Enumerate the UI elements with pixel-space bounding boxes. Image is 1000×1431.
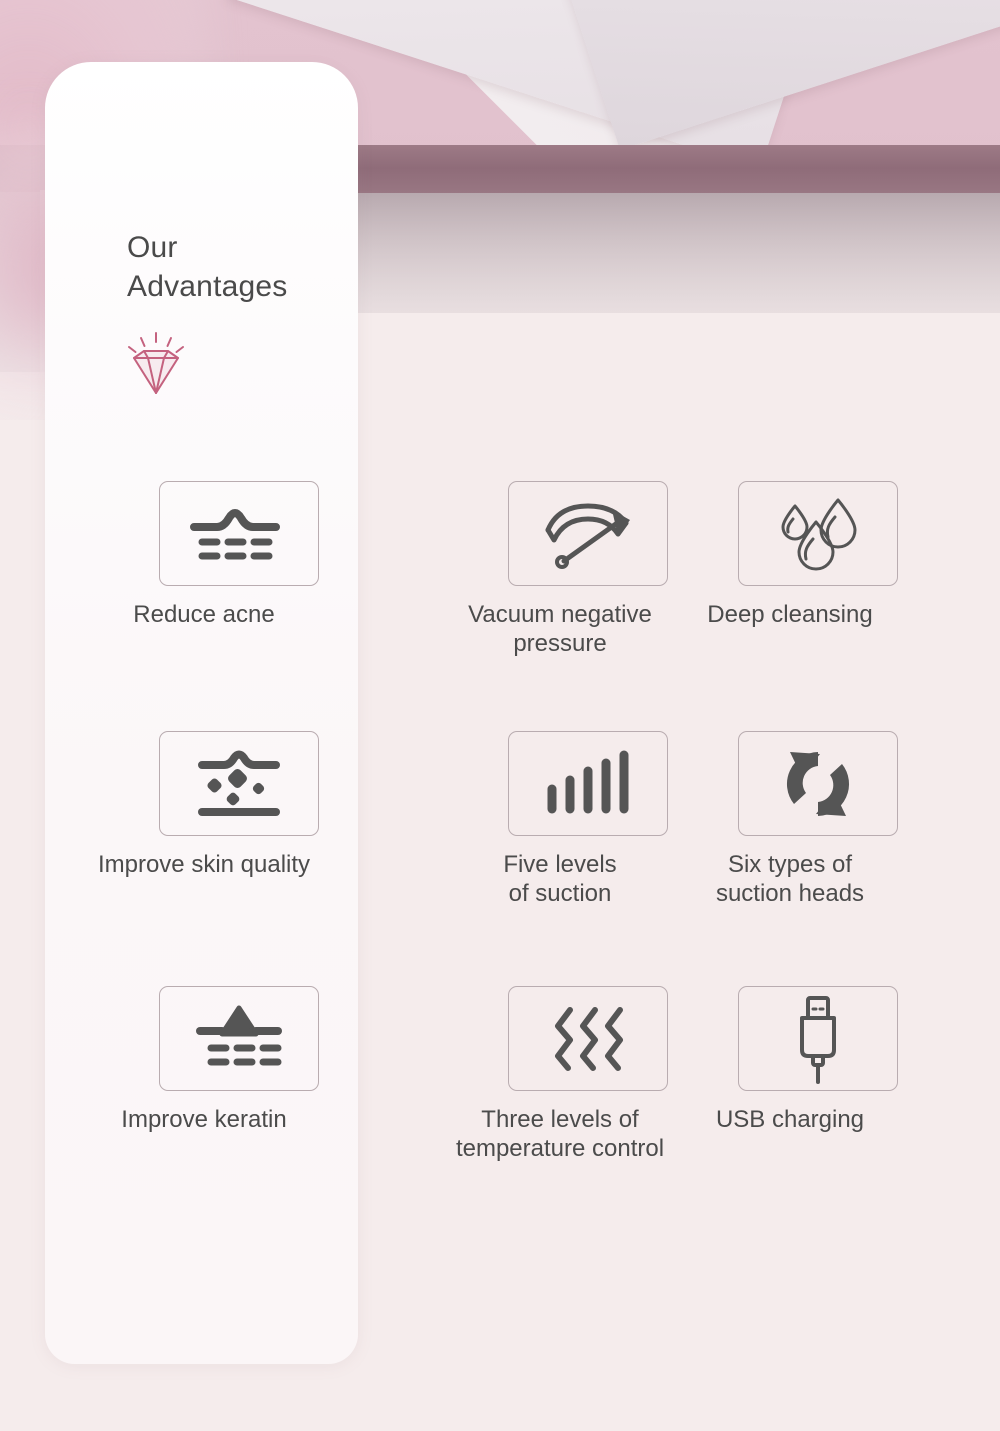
feature-label: Deep cleansing <box>655 600 925 629</box>
skin-bump-dashes-icon <box>159 481 319 586</box>
advantages-page: Our Advantages <box>0 0 1000 1431</box>
page-title: Our Advantages <box>127 228 347 306</box>
feature-label: Six types of suction heads <box>655 850 925 908</box>
feature-usb-charging[interactable]: USB charging <box>710 986 925 1134</box>
water-droplets-icon <box>738 481 898 586</box>
feature-improve-skin-quality[interactable]: Improve skin quality <box>124 731 354 879</box>
heat-waves-icon <box>508 986 668 1091</box>
feature-three-levels-of-temperature-control[interactable]: Three levels of temperature control <box>480 986 695 1163</box>
feature-label: Reduce acne <box>54 600 354 629</box>
pressure-gauge-icon <box>508 481 668 586</box>
feature-label: Improve keratin <box>54 1105 354 1134</box>
usb-plug-icon <box>738 986 898 1091</box>
feature-reduce-acne[interactable]: Reduce acne <box>124 481 354 629</box>
skin-peak-dashes-icon <box>159 986 319 1091</box>
refresh-cycle-icon <box>738 731 898 836</box>
diamond-icon <box>121 331 191 397</box>
signal-bars-icon <box>508 731 668 836</box>
feature-six-types-of-suction-heads[interactable]: Six types of suction heads <box>710 731 925 908</box>
feature-label: Improve skin quality <box>54 850 354 879</box>
skin-particles-icon <box>159 731 319 836</box>
feature-deep-cleansing[interactable]: Deep cleansing <box>710 481 925 629</box>
feature-vacuum-negative-pressure[interactable]: Vacuum negative pressure <box>480 481 695 658</box>
feature-label: USB charging <box>655 1105 925 1134</box>
feature-improve-keratin[interactable]: Improve keratin <box>124 986 354 1134</box>
